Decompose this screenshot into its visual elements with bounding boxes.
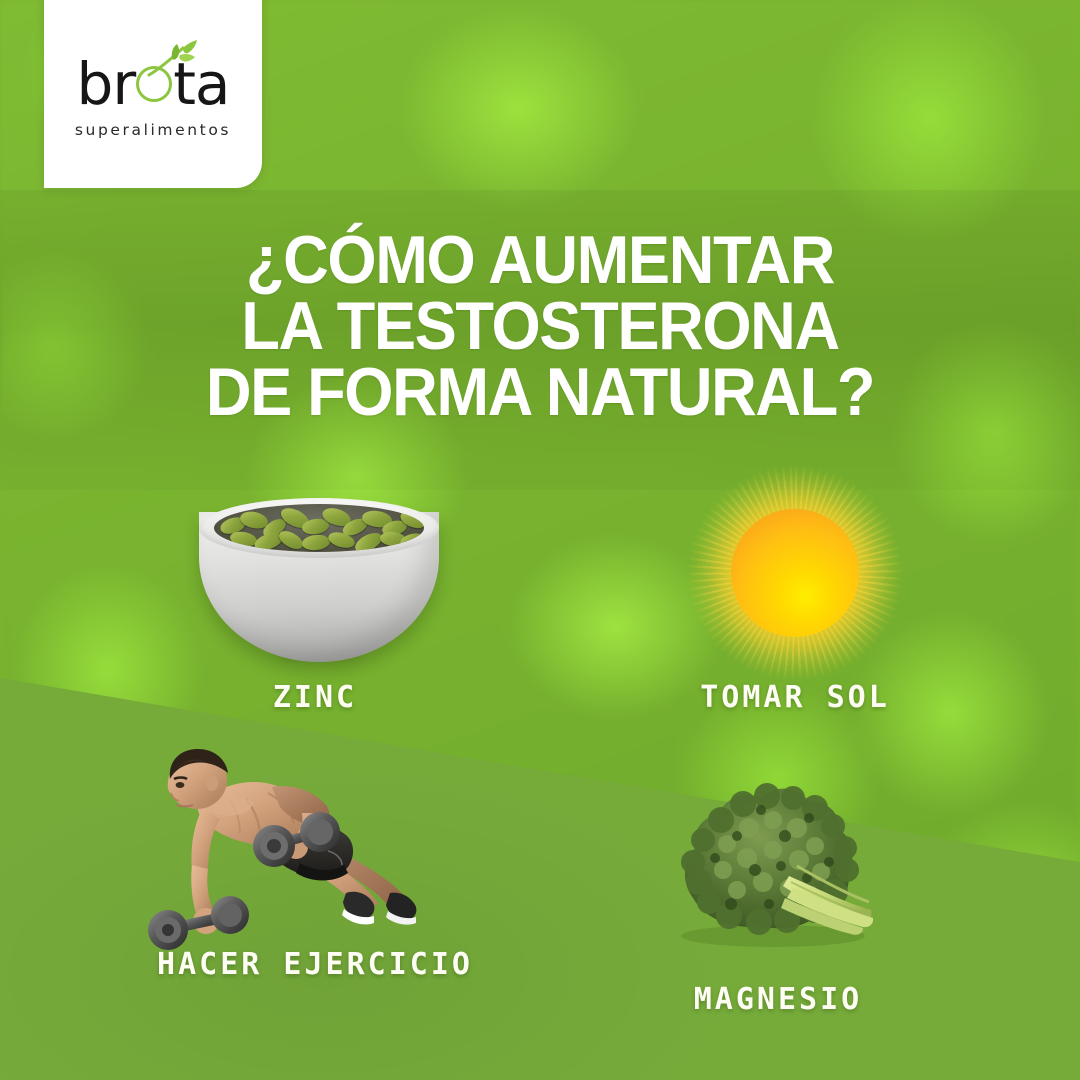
brand-tagline: superalimentos xyxy=(75,121,231,139)
poster-canvas: br ta superalimentos ¿CÓMO AUMENTAR LA T… xyxy=(0,0,1080,1080)
brand-o-circle-icon xyxy=(136,66,172,102)
headline-line-3: DE FORMA NATURAL? xyxy=(38,360,1042,426)
item-label-zinc: ZINC xyxy=(273,680,357,715)
item-zinc[interactable]: ZINC xyxy=(175,480,455,740)
item-label-magnesio: MAGNESIO xyxy=(694,982,863,1017)
bowl-seed-cavity xyxy=(214,504,424,552)
page-title: ¿CÓMO AUMENTAR LA TESTOSTERONA DE FORMA … xyxy=(38,228,1042,426)
headline-line-2: LA TESTOSTERONA xyxy=(38,294,1042,360)
brand-logo[interactable]: br ta superalimentos xyxy=(44,0,262,188)
bowl-of-pumpkin-seeds-icon xyxy=(199,490,439,665)
item-label-hacer-ejercicio: HACER EJERCICIO xyxy=(157,947,473,982)
bunch-of-kale-icon xyxy=(665,770,895,950)
headline-line-1: ¿CÓMO AUMENTAR xyxy=(38,228,1042,294)
brand-wordmark-suffix: ta xyxy=(173,55,229,113)
man-doing-dumbbell-plank-row-icon xyxy=(150,735,450,950)
item-magnesio[interactable]: MAGNESIO xyxy=(640,770,940,1020)
item-label-tomar-sol: TOMAR SOL xyxy=(700,680,890,715)
brand-wordmark-prefix: br xyxy=(77,55,136,113)
sun-disc xyxy=(731,509,859,637)
sun-icon xyxy=(665,480,925,665)
item-hacer-ejercicio[interactable]: HACER EJERCICIO xyxy=(150,735,480,1000)
brand-wordmark: br ta xyxy=(77,55,230,113)
item-tomar-sol[interactable]: TOMAR SOL xyxy=(655,480,935,740)
